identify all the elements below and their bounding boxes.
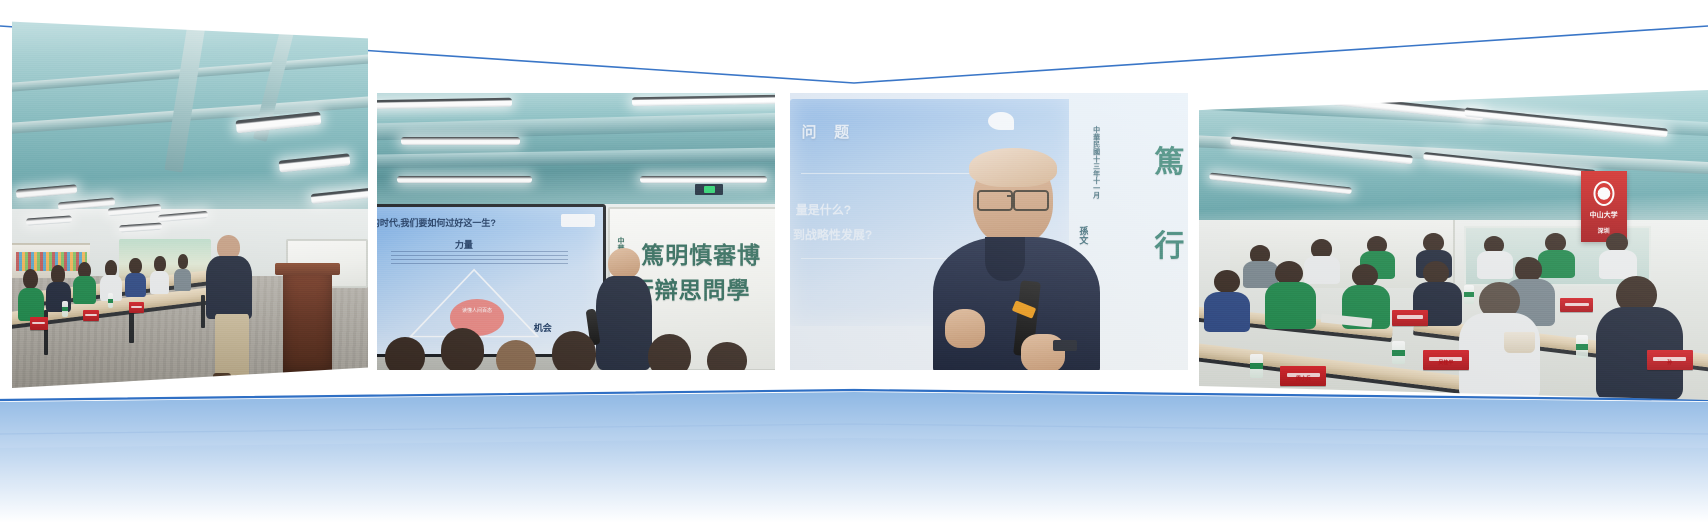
name-card-text: 孙 [1647, 359, 1693, 366]
photo-panel-speaker-portrait[interactable]: 问 题 量是什么? 到战略性发展? 篤 行 中華民國十三年十一月 孫文 [790, 93, 1188, 370]
photo-panel-classroom-wide[interactable] [12, 16, 368, 388]
gallery-stage: 的时代,我们要如何过好这一生? 力量 读懂人间百态 机会 篤明慎審博 行辯思問學… [0, 0, 1708, 523]
photo-grain [12, 16, 368, 388]
instructor-shoe [233, 375, 251, 385]
name-card-text: 吴桂平 [1423, 359, 1469, 366]
photo-grain [377, 93, 775, 370]
photo-panel-presenter-at-screen[interactable]: 的时代,我们要如何过好这一生? 力量 读懂人间百态 机会 篤明慎審博 行辯思問學… [377, 93, 775, 370]
name-card-text: 周小兵 [1280, 375, 1326, 382]
presenter-at-screen-image: 的时代,我们要如何过好这一生? 力量 读懂人间百态 机会 篤明慎審博 行辯思問學… [377, 93, 775, 370]
speaker-portrait-image: 问 题 量是什么? 到战略性发展? 篤 行 中華民國十三年十一月 孫文 [790, 93, 1188, 370]
photo-panel-audience[interactable]: 中山大学 深圳 [1199, 90, 1708, 400]
photo-grain [1199, 90, 1708, 400]
classroom-wide-image [12, 16, 368, 388]
photo-grain [790, 93, 1188, 370]
audience-image: 中山大学 深圳 [1199, 90, 1708, 400]
